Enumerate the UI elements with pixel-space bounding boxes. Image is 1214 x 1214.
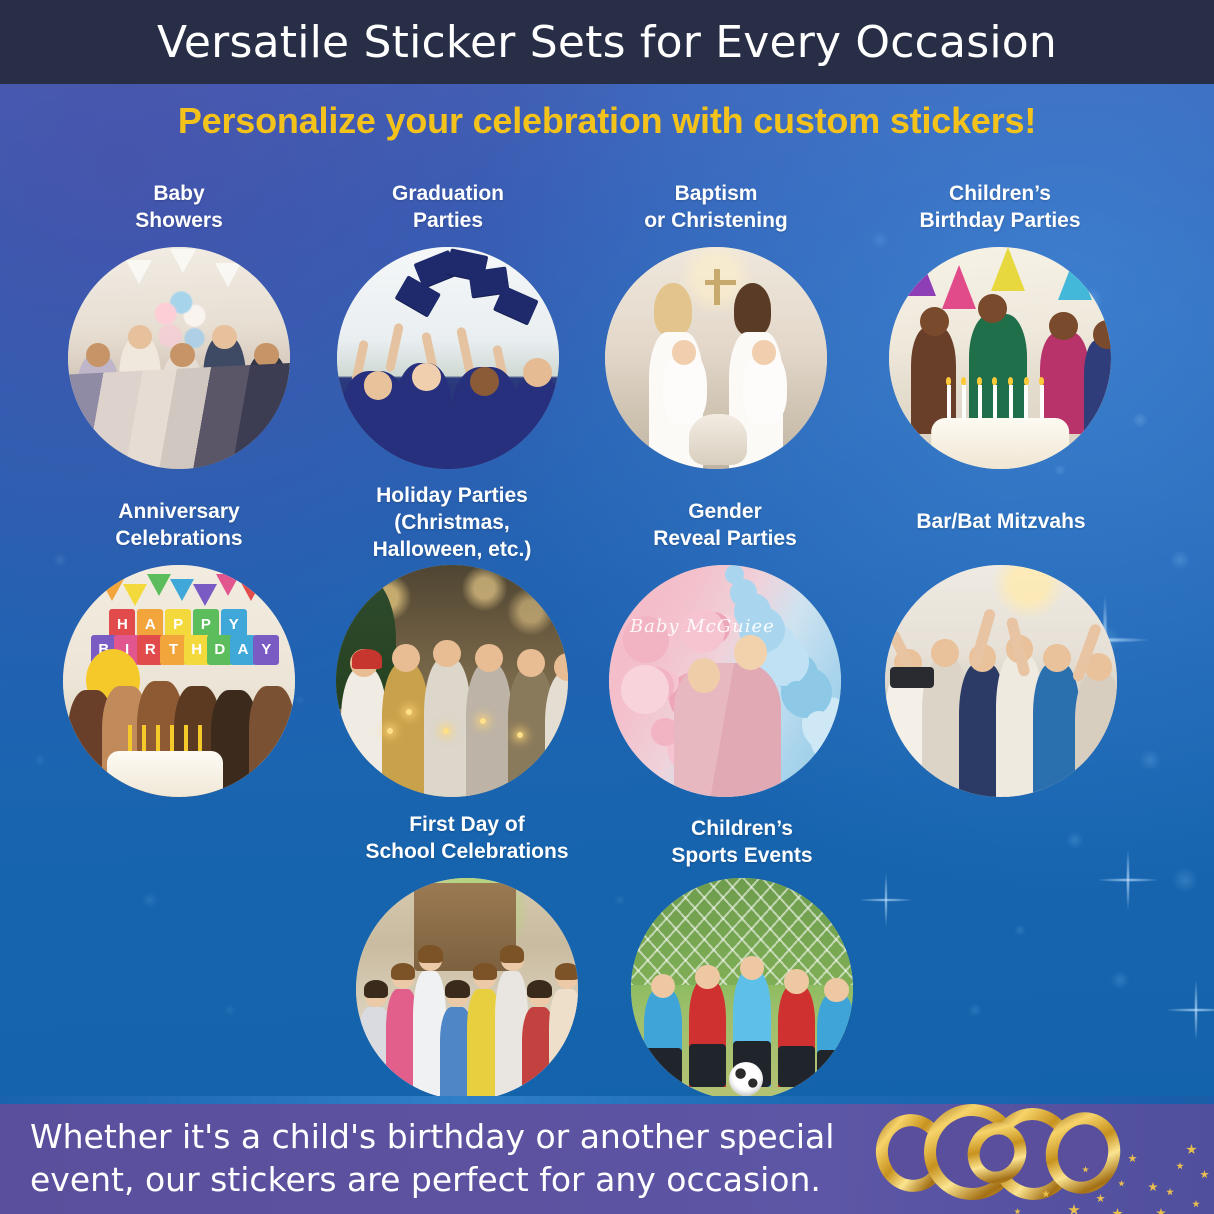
occasion-photo-circle[interactable] bbox=[885, 565, 1117, 797]
occasion-item[interactable]: Baby Showers bbox=[39, 180, 319, 469]
occasion-photo-circle[interactable]: Baby McGuiee bbox=[609, 565, 841, 797]
childrens-birthday-photo bbox=[889, 247, 1111, 469]
occasion-label: Graduation Parties bbox=[392, 180, 504, 234]
occasion-label: Anniversary Celebrations bbox=[115, 498, 242, 552]
graduation-photo bbox=[337, 247, 559, 469]
occasion-photo-circle[interactable] bbox=[605, 247, 827, 469]
occasion-label: Bar/Bat Mitzvahs bbox=[916, 508, 1085, 535]
mitzvah-photo bbox=[885, 565, 1117, 797]
occasion-item[interactable]: Baptism or Christening bbox=[576, 180, 856, 469]
occasions-grid: Baby ShowersGraduation PartiesBaptism or… bbox=[0, 0, 1214, 1214]
footer-text: Whether it's a child's birthday or anoth… bbox=[30, 1116, 910, 1202]
occasion-label: Children’s Sports Events bbox=[671, 815, 812, 869]
occasion-label: Holiday Parties (Christmas, Halloween, e… bbox=[373, 482, 532, 563]
poster-canvas: Versatile Sticker Sets for Every Occasio… bbox=[0, 0, 1214, 1214]
baby-shower-photo bbox=[68, 247, 290, 469]
occasion-photo-circle[interactable] bbox=[631, 878, 853, 1100]
occasion-item[interactable]: Holiday Parties (Christmas, Halloween, e… bbox=[312, 482, 592, 797]
occasion-photo-circle[interactable] bbox=[889, 247, 1111, 469]
occasion-photo-circle[interactable] bbox=[336, 565, 568, 797]
occasion-item[interactable]: Bar/Bat Mitzvahs bbox=[861, 508, 1141, 797]
gender-reveal-script-text: Baby McGuiee bbox=[630, 616, 816, 637]
occasion-label: Baby Showers bbox=[135, 180, 223, 234]
anniversary-photo: HAPPYBIRTHDAY bbox=[63, 565, 295, 797]
baptism-photo bbox=[605, 247, 827, 469]
occasion-photo-circle[interactable] bbox=[356, 878, 578, 1100]
occasion-label: Gender Reveal Parties bbox=[653, 498, 797, 552]
occasion-item[interactable]: Children’s Birthday Parties bbox=[860, 180, 1140, 469]
occasion-item[interactable]: First Day of School Celebrations bbox=[327, 811, 607, 1100]
holiday-party-photo bbox=[336, 565, 568, 797]
occasion-item[interactable]: Gender Reveal PartiesBaby McGuiee bbox=[585, 498, 865, 797]
occasion-label: Children’s Birthday Parties bbox=[919, 180, 1080, 234]
occasion-photo-circle[interactable] bbox=[68, 247, 290, 469]
first-day-school-photo bbox=[356, 878, 578, 1100]
occasion-photo-circle[interactable] bbox=[337, 247, 559, 469]
occasion-item[interactable]: Children’s Sports Events bbox=[602, 815, 882, 1100]
occasion-photo-circle[interactable]: HAPPYBIRTHDAY bbox=[63, 565, 295, 797]
gold-ribbon-icon bbox=[850, 1098, 1210, 1214]
occasion-label: Baptism or Christening bbox=[644, 180, 788, 234]
occasion-item[interactable]: Graduation Parties bbox=[308, 180, 588, 469]
childrens-sports-photo bbox=[631, 878, 853, 1100]
occasion-item[interactable]: Anniversary CelebrationsHAPPYBIRTHDAY bbox=[39, 498, 319, 797]
gender-reveal-photo: Baby McGuiee bbox=[609, 565, 841, 797]
occasion-label: First Day of School Celebrations bbox=[365, 811, 568, 865]
footer-banner: Whether it's a child's birthday or anoth… bbox=[0, 1096, 1214, 1214]
